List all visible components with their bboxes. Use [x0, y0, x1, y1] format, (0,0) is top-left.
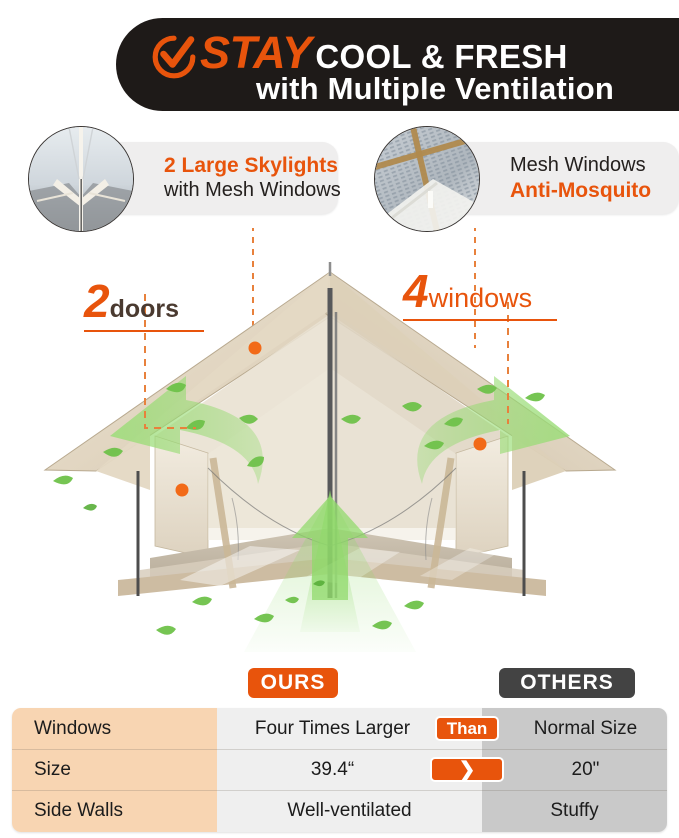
annotation-doors-underline	[84, 330, 204, 332]
annotation-doors-count: 2	[84, 275, 110, 327]
callout-mesh-line-2: Anti-Mosquito	[510, 178, 651, 203]
comparison-table: Windows Four Times Larger Than Normal Si…	[12, 708, 667, 832]
comparison-header-ours-label: OURS	[261, 671, 326, 695]
comparison-header-ours: OURS	[248, 668, 338, 698]
table-row: Size 39.4“ ❯ 20"	[12, 749, 667, 790]
comparison-header-others: OTHERS	[499, 668, 635, 698]
banner-stay-text: STAY	[200, 29, 311, 77]
marker-dot-window	[474, 438, 487, 451]
table-cell-label: Size	[34, 749, 214, 790]
tent-skylight-interior-photo	[28, 126, 134, 232]
banner-line-1: STAY COOL & FRESH	[200, 29, 568, 77]
table-row: Windows Four Times Larger Than Normal Si…	[12, 708, 667, 749]
marker-dot-roof	[249, 342, 262, 355]
annotation-doors-label: doors	[110, 295, 179, 323]
table-row: Side Walls Well-ventilated Stuffy	[12, 790, 667, 831]
table-cell-others: Normal Size	[482, 708, 667, 749]
annotation-windows-label: windows	[429, 283, 533, 313]
check-circle-icon	[152, 35, 196, 79]
comparison-header-others-label: OTHERS	[520, 671, 614, 695]
callout-skylights: 2 Large Skylights with Mesh Windows	[14, 142, 338, 214]
marker-dot-door	[176, 484, 189, 497]
header-banner: STAY COOL & FRESH with Multiple Ventilat…	[116, 18, 679, 111]
annotation-windows-underline	[403, 319, 557, 321]
callout-mesh-line-1: Mesh Windows	[510, 153, 651, 178]
infographic-page: STAY COOL & FRESH with Multiple Ventilat…	[0, 0, 679, 838]
table-cell-others: Stuffy	[482, 790, 667, 831]
annotation-windows: 4windows	[403, 268, 557, 321]
table-cell-ours: Well-ventilated	[217, 790, 482, 831]
banner-subtitle: with Multiple Ventilation	[200, 71, 670, 107]
table-cell-label: Windows	[34, 708, 214, 749]
callout-mesh-windows: Mesh Windows Anti-Mosquito	[360, 142, 679, 214]
tent-mesh-window-photo	[374, 126, 480, 232]
callout-skylights-line-2: with Mesh Windows	[164, 178, 341, 203]
callout-skylights-text: 2 Large Skylights with Mesh Windows	[164, 142, 341, 214]
annotation-doors: 2doors	[84, 278, 204, 332]
table-cell-label: Side Walls	[34, 790, 214, 831]
annotation-windows-count: 4	[403, 265, 429, 317]
callout-skylights-line-1: 2 Large Skylights	[164, 153, 341, 178]
callout-mesh-text: Mesh Windows Anti-Mosquito	[510, 142, 651, 214]
table-cell-others: 20"	[482, 749, 667, 790]
